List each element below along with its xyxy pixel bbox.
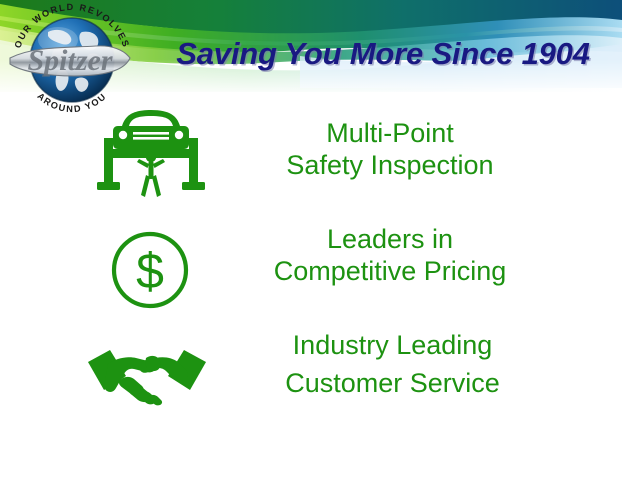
slide-canvas: Spitzer OUR WORLD REVOLVES AROUND YOU Sa… xyxy=(0,0,622,483)
svg-text:$: $ xyxy=(136,243,164,299)
feature-row-service: Industry Leading Customer Service xyxy=(0,326,622,422)
caption-line: Customer Service xyxy=(200,364,585,402)
spitzer-logo: Spitzer OUR WORLD REVOLVES AROUND YOU xyxy=(4,2,140,116)
caption-line: Safety Inspection xyxy=(200,150,580,182)
caption-line: Industry Leading xyxy=(200,326,585,364)
feature-row-inspection: Multi-Point Safety Inspection xyxy=(0,102,622,202)
dollar-circle-icon: $ xyxy=(108,228,192,312)
feature-caption-service: Industry Leading Customer Service xyxy=(200,326,585,403)
feature-caption-inspection: Multi-Point Safety Inspection xyxy=(200,118,580,182)
car-on-lift-icon xyxy=(96,104,206,200)
feature-caption-pricing: Leaders in Competitive Pricing xyxy=(190,224,590,288)
caption-line: Multi-Point xyxy=(200,118,580,150)
caption-line: Competitive Pricing xyxy=(190,256,590,288)
logo-brand-text: Spitzer xyxy=(27,44,112,77)
page-title: Saving You More Since 1904 xyxy=(150,36,616,72)
feature-row-pricing: $ Leaders in Competitive Pricing xyxy=(0,222,622,318)
handshake-icon xyxy=(86,340,208,410)
caption-line: Leaders in xyxy=(190,224,590,256)
